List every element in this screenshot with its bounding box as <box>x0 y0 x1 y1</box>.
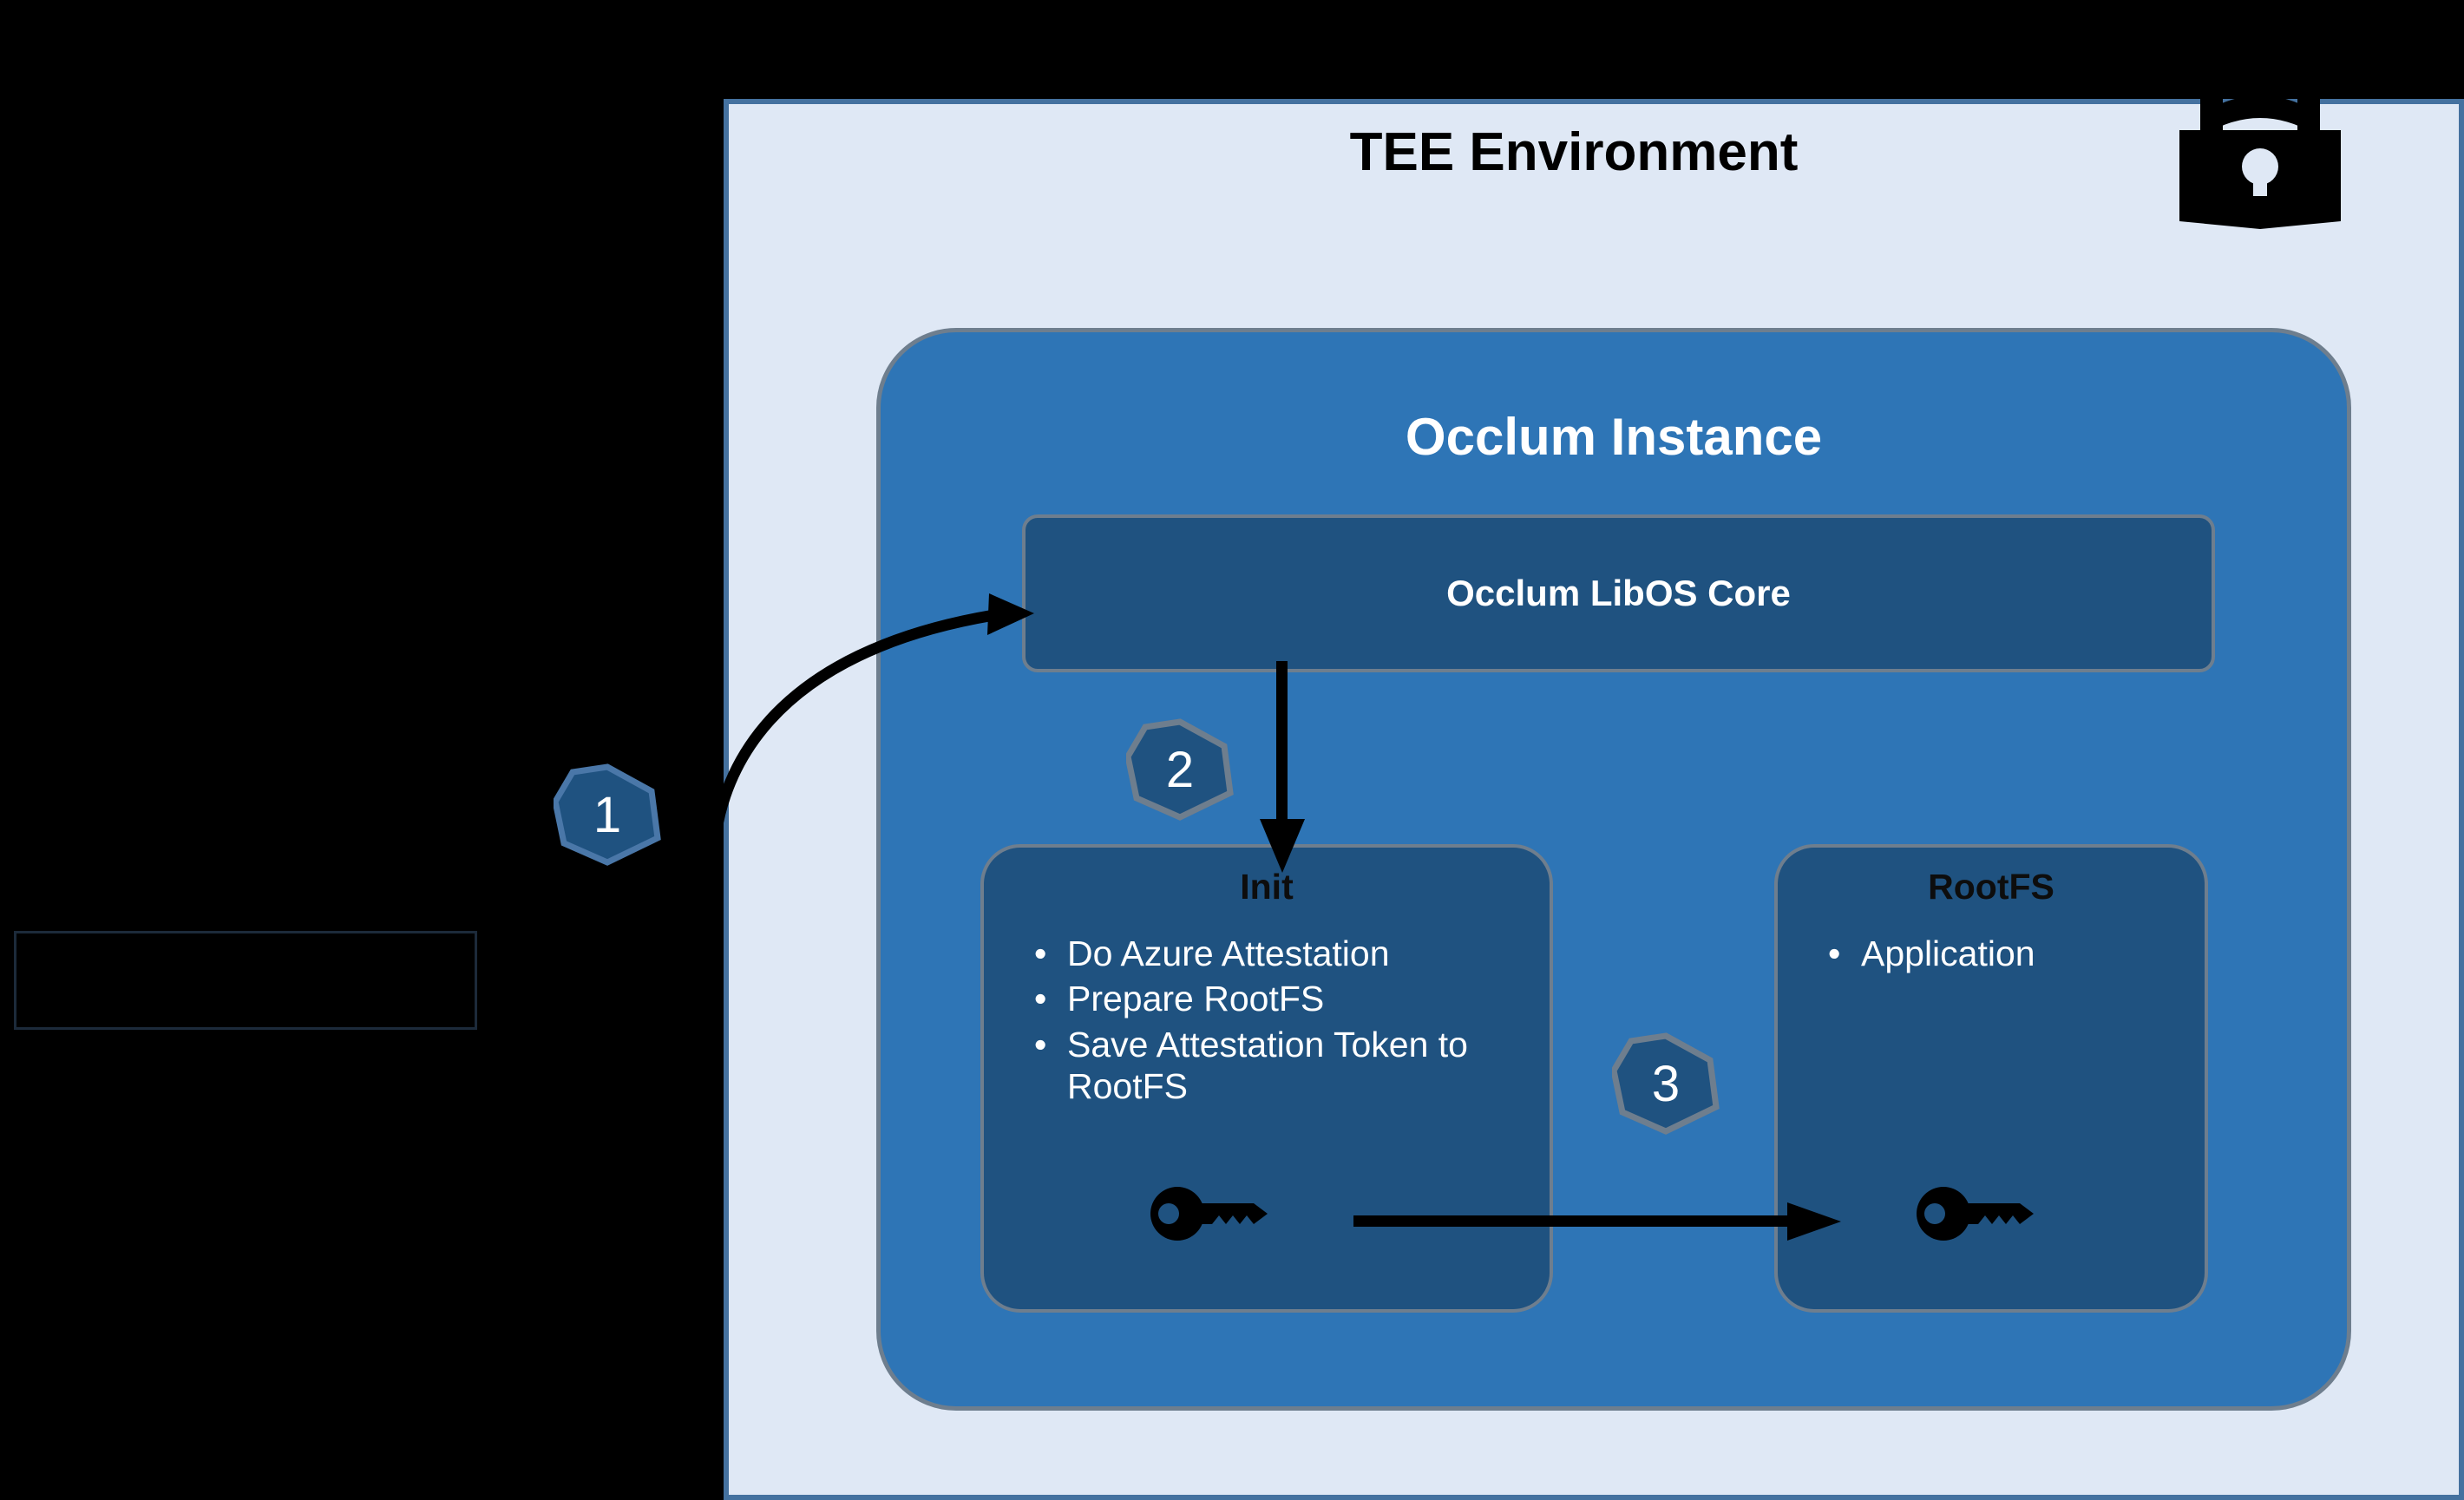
bullet-glyph: • <box>1034 978 1046 1019</box>
rootfs-bullet-list: • Application <box>1807 933 2196 978</box>
bullet-glyph: • <box>1034 1024 1046 1065</box>
occlum-instance-container: Occlum Instance Occlum LibOS Core Init •… <box>876 328 2351 1411</box>
step-badge-3-label: 3 <box>1612 1032 1720 1135</box>
key-icon <box>1916 1180 2054 1248</box>
rootfs-panel-title: RootFS <box>1778 867 2205 907</box>
step-badge-2: 2 <box>1126 718 1234 821</box>
entry-curved-arrow <box>694 555 1067 876</box>
libos-to-init-arrow <box>1215 661 1353 876</box>
list-item: • Do Azure Attestation <box>1013 933 1541 974</box>
bullet-glyph: • <box>1034 933 1046 974</box>
step-badge-3: 3 <box>1612 1032 1720 1135</box>
list-item: • Prepare RootFS <box>1013 978 1541 1019</box>
bullet-glyph: • <box>1828 933 1840 974</box>
step-badge-1: 1 <box>554 763 661 866</box>
padlock-icon <box>2169 80 2351 245</box>
rootfs-bullet-0: Application <box>1861 933 2035 973</box>
init-bullet-0: Do Azure Attestation <box>1067 933 1390 973</box>
list-item: • Save Attestation Token to RootFS <box>1013 1024 1541 1108</box>
init-bullet-list: • Do Azure Attestation • Prepare RootFS … <box>1013 933 1541 1111</box>
step-badge-1-label: 1 <box>554 763 661 866</box>
key-icon <box>1150 1180 1288 1248</box>
list-item: • Application <box>1807 933 2196 974</box>
occlum-libos-core-title: Occlum LibOS Core <box>1446 573 1791 614</box>
diagram-canvas: TEE Environment Occlum Instance Occlum L… <box>0 0 2464 1500</box>
init-bullet-2: Save Attestation Token to RootFS <box>1067 1025 1468 1106</box>
init-bullet-1: Prepare RootFS <box>1067 979 1324 1019</box>
empty-outline-box <box>14 931 477 1030</box>
init-to-rootfs-arrow <box>1353 1195 1857 1248</box>
occlum-instance-title: Occlum Instance <box>881 407 2347 467</box>
step-badge-2-label: 2 <box>1126 718 1234 821</box>
occlum-libos-core-box: Occlum LibOS Core <box>1022 514 2215 672</box>
